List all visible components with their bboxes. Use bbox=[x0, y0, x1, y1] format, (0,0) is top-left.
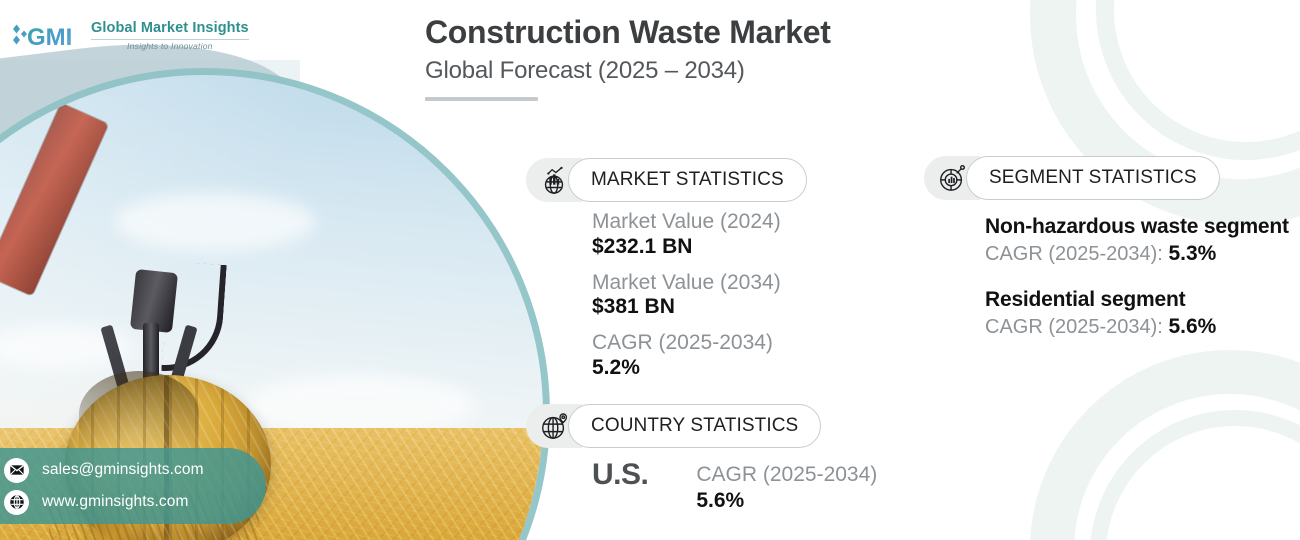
globe-icon bbox=[4, 490, 29, 515]
country-statistics-label: COUNTRY STATISTICS bbox=[568, 404, 821, 448]
market-value-2024-label: Market Value (2024) bbox=[592, 210, 781, 235]
market-statistics-header[interactable]: MARKET STATISTICS bbox=[526, 158, 807, 202]
bottom-right-inner-ring-decoration bbox=[1090, 410, 1300, 540]
contact-badge: sales@gminsights.com www.gminsights.com bbox=[0, 448, 266, 524]
infographic-canvas: GMI Global Market Insights Insights to I… bbox=[0, 0, 1300, 540]
title-underline bbox=[425, 97, 538, 101]
contact-email-text: sales@gminsights.com bbox=[42, 461, 204, 479]
gmi-logo-mark-icon: GMI bbox=[10, 16, 84, 56]
market-statistics-label: MARKET STATISTICS bbox=[568, 158, 807, 202]
globe-pin-icon bbox=[539, 411, 569, 441]
market-cagr-value: 5.2% bbox=[592, 356, 781, 381]
page-subtitle: Global Forecast (2025 – 2034) bbox=[425, 57, 831, 85]
market-statistics-list: Market Value (2024) $232.1 BN Market Val… bbox=[592, 210, 781, 381]
segment-statistics-list: Non-hazardous waste segment CAGR (2025-2… bbox=[985, 214, 1289, 340]
brand-divider bbox=[91, 39, 249, 40]
segment-2-metric-label: CAGR (2025-2034): bbox=[985, 316, 1163, 338]
contact-website-row[interactable]: www.gminsights.com bbox=[4, 490, 266, 515]
country-cagr-value: 5.6% bbox=[696, 487, 877, 514]
country-statistics-header[interactable]: COUNTRY STATISTICS bbox=[526, 404, 821, 448]
market-value-2034-label: Market Value (2034) bbox=[592, 271, 781, 296]
segment-spacer bbox=[985, 267, 1289, 287]
segment-1-metric-label: CAGR (2025-2034): bbox=[985, 243, 1163, 265]
segment-2-metric: CAGR (2025-2034): 5.6% bbox=[985, 313, 1289, 340]
country-statistics-body: U.S. CAGR (2025-2034) 5.6% bbox=[592, 458, 877, 514]
globe-bar-chart-icon bbox=[539, 165, 569, 195]
globe-glyph-icon bbox=[9, 494, 25, 510]
top-right-inner-ring-decoration bbox=[1096, 0, 1300, 160]
segment-1-metric: CAGR (2025-2034): 5.3% bbox=[985, 240, 1289, 267]
segment-1-metric-value: 5.3% bbox=[1168, 242, 1216, 265]
envelope-icon bbox=[4, 458, 29, 483]
segment-1-name: Non-hazardous waste segment bbox=[985, 214, 1289, 240]
pie-chart-target-icon bbox=[937, 163, 967, 193]
segment-statistics-header[interactable]: SEGMENT STATISTICS bbox=[924, 156, 1220, 200]
market-value-2024-value: $232.1 BN bbox=[592, 235, 781, 260]
contact-email-row[interactable]: sales@gminsights.com bbox=[4, 458, 266, 483]
page-header: Construction Waste Market Global Forecas… bbox=[425, 14, 831, 101]
segment-2-name: Residential segment bbox=[985, 287, 1289, 313]
gmi-logo[interactable]: GMI Global Market Insights Insights to I… bbox=[10, 16, 249, 56]
svg-text:GMI: GMI bbox=[27, 24, 72, 51]
page-title: Construction Waste Market bbox=[425, 14, 831, 51]
country-name: U.S. bbox=[592, 458, 648, 492]
contact-website-text: www.gminsights.com bbox=[42, 493, 189, 511]
envelope-glyph-icon bbox=[9, 462, 25, 478]
bottom-right-ring-decoration bbox=[1030, 350, 1300, 540]
segment-2-metric-value: 5.6% bbox=[1168, 315, 1216, 338]
brand-name: Global Market Insights bbox=[91, 21, 249, 36]
segment-statistics-label: SEGMENT STATISTICS bbox=[966, 156, 1220, 200]
market-cagr-label: CAGR (2025-2034) bbox=[592, 331, 781, 356]
country-cagr-label: CAGR (2025-2034) bbox=[696, 462, 877, 487]
country-metric-group: CAGR (2025-2034) 5.6% bbox=[696, 458, 877, 514]
brand-tagline: Insights to Innovation bbox=[91, 42, 249, 51]
gmi-logo-text: Global Market Insights Insights to Innov… bbox=[91, 21, 249, 50]
market-value-2034-value: $381 BN bbox=[592, 295, 781, 320]
